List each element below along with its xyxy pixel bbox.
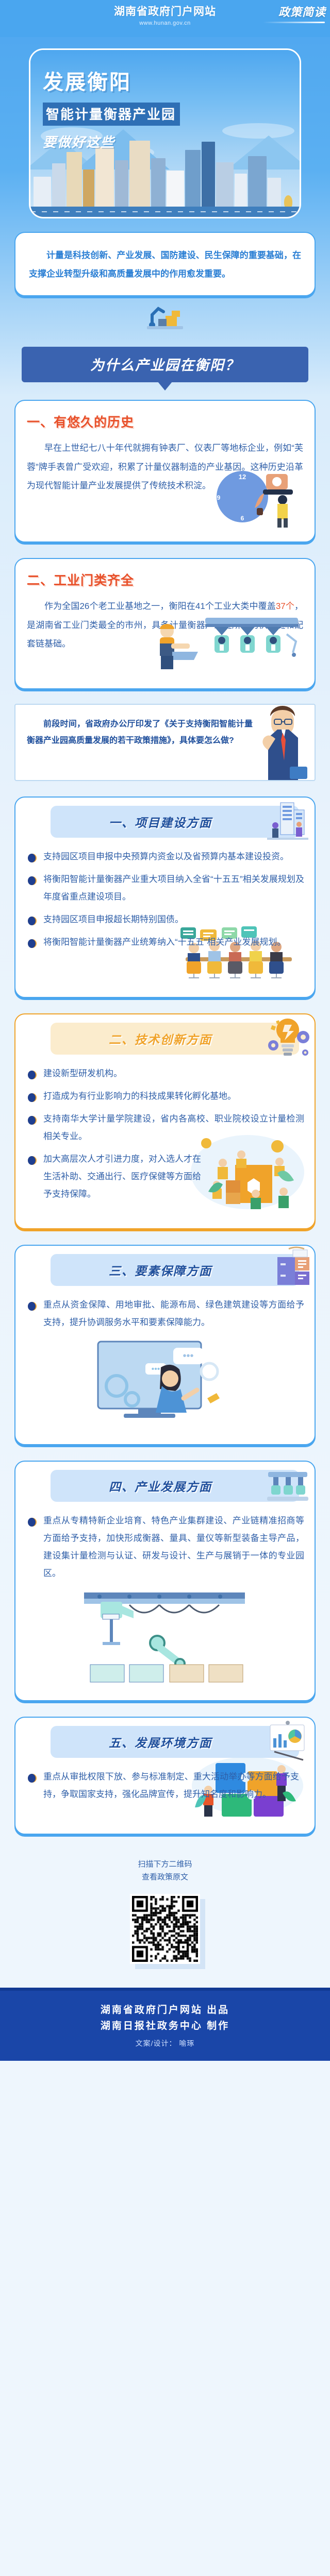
charts-clipboard-icon bbox=[263, 1718, 312, 1765]
section-label-4: 四、产业发展方面 bbox=[109, 1477, 212, 1495]
qr-code-icon[interactable] bbox=[130, 1894, 200, 1964]
list-item: 打造成为有行业影响力的科技成果转化孵化基地。 bbox=[26, 1088, 304, 1105]
policy-section-4: 四、产业发展方面 重点从专精特新企业培育、特色产业集群建设、产业链精准招商等方面… bbox=[14, 1461, 316, 1701]
footer-line-1: 湖南省政府门户网站 出品 bbox=[5, 2002, 325, 2018]
reason-highlight-37: 37个 bbox=[276, 601, 294, 611]
infographic-page: 湖南省政府门户网站 www.hunan.gov.cn 政策简读 发展衡阳 智能计… bbox=[0, 0, 330, 2576]
hero-title-group: 发展衡阳 智能计量衡器产业园 要做好这些 bbox=[30, 50, 300, 151]
reason-title-2: 二、工业门类齐全 bbox=[27, 570, 303, 589]
woman-monitor-gears-icon: ••• ••• bbox=[88, 1336, 242, 1429]
footer-credit: 文案/设计： 喻琢 bbox=[5, 2038, 325, 2048]
conveyor-industry-icon bbox=[263, 1462, 312, 1509]
reason-card-1: 一、有悠久的历史 早在上世纪七八十年代就拥有钟表厂、仪表厂等地标企业，例如“芙蓉… bbox=[14, 400, 316, 543]
qr-caption-line1: 扫描下方二维码 bbox=[0, 1858, 330, 1872]
intro-card: 计量是科技创新、产业发展、国防建设、民生保障的重要基础，在支撑企业转型升级和高质… bbox=[14, 232, 316, 296]
lightbulb-gear-icon bbox=[263, 1014, 312, 1062]
policy-brief-badge: 政策简读 bbox=[278, 3, 326, 20]
brand-underline-decoration bbox=[263, 22, 325, 23]
section-header-1: 一、项目建设方面 bbox=[51, 806, 299, 838]
list-item: 重点从审批权限下放、参与标准制定、重大活动举办等方面给予支持，争取国家支持，强化… bbox=[26, 1768, 304, 1803]
factory-robot-illustration-icon bbox=[148, 614, 303, 675]
question-banner-wrap: 为什么产业园在衡阳？ bbox=[14, 347, 316, 382]
section-header-3: 三、要素保障方面 bbox=[51, 1254, 299, 1286]
hero-title-line1: 发展衡阳 bbox=[43, 65, 131, 95]
section-header-4: 四、产业发展方面 bbox=[51, 1470, 299, 1502]
section-bullets-1: 支持园区项目申报中央预算内资金以及省预算内基本建设投资。 将衡阳智能计量衡器产业… bbox=[26, 848, 304, 951]
reason-card-2: 二、工业门类齐全 作为全国26个老工业基地之一，衡阳在41个工业大类中覆盖37个… bbox=[14, 558, 316, 689]
hero-title-line3: 要做好这些 bbox=[43, 132, 300, 151]
intro-text: 计量是科技创新、产业发展、国防建设、民生保障的重要基础，在支撑企业转型升级和高质… bbox=[29, 246, 301, 283]
site-header: 湖南省政府门户网站 www.hunan.gov.cn 政策简读 bbox=[0, 0, 330, 37]
section-bullets-4: 重点从专精特新企业培育、特色产业集群建设、产业链精准招商等方面给予支持，加快形成… bbox=[26, 1512, 304, 1582]
robot-conveyor-illustration bbox=[26, 1587, 304, 1688]
site-name: 湖南省政府门户网站 bbox=[114, 3, 216, 19]
page-footer: 湖南省政府门户网站 出品 湖南日报社政务中心 制作 文案/设计： 喻琢 bbox=[0, 1988, 330, 2061]
policy-notice-card: 前段时间，省政府办公厅印发了《关于支持衡阳智能计量衡器产业园高质量发展的若干政策… bbox=[14, 704, 316, 781]
file-cabinet-icon bbox=[263, 1246, 312, 1293]
list-item: 重点从资金保障、用地审批、能源布局、绿色建筑建设等方面给予支持，提升协调服务水平… bbox=[26, 1296, 304, 1331]
section-label-3: 三、要素保障方面 bbox=[109, 1261, 212, 1279]
svg-text:9: 9 bbox=[217, 494, 221, 501]
city-skyline-illustration bbox=[30, 140, 300, 217]
list-item: 将衡阳智能计量衡器产业重大项目纳入全省“十五五”相关发展规划及年度省重点建设项目… bbox=[26, 871, 304, 906]
list-item: 加大高层次人才引进力度，对入选人才在生活补助、交通出行、医疗保健等方面给予支持保… bbox=[26, 1150, 304, 1203]
qr-caption-line2: 查看政策原文 bbox=[0, 1871, 330, 1885]
question-banner: 为什么产业园在衡阳？ bbox=[22, 347, 308, 382]
svg-text:•••: ••• bbox=[183, 1350, 193, 1362]
hero-title-line2: 智能计量衡器产业园 bbox=[43, 103, 180, 126]
qr-block: 扫描下方二维码 查看政策原文 bbox=[0, 1858, 330, 1974]
footer-line-2: 湖南日报社政务中心 制作 bbox=[5, 2018, 325, 2034]
list-item: 重点从专精特新企业培育、特色产业集群建设、产业链精准招商等方面给予支持，加快形成… bbox=[26, 1512, 304, 1582]
list-item: 建设新型研发机构。 bbox=[26, 1065, 304, 1082]
reason-text-2-before: 作为全国26个老工业基地之一，衡阳在41个工业大类中覆盖 bbox=[44, 601, 276, 611]
policy-notice-text: 前段时间，省政府办公厅印发了《关于支持衡阳智能计量衡器产业园高质量发展的若干政策… bbox=[27, 716, 253, 749]
section-bullets-3: 重点从资金保障、用地审批、能源布局、绿色建筑建设等方面给予支持，提升协调服务水平… bbox=[26, 1296, 304, 1331]
section-label-5: 五、发展环境方面 bbox=[109, 1733, 212, 1751]
section-bullets-5: 重点从审批权限下放、参与标准制定、重大活动举办等方面给予支持，争取国家支持，强化… bbox=[26, 1768, 304, 1803]
hero-banner: 发展衡阳 智能计量衡器产业园 要做好这些 bbox=[29, 48, 301, 218]
robot-arm-decoration bbox=[0, 301, 330, 331]
clock-illustration-icon: 12 9 6 6 bbox=[205, 467, 303, 529]
site-url: www.hunan.gov.cn bbox=[114, 20, 216, 26]
list-item: 将衡阳智能计量衡器产业统筹纳入“十五五”相关产业发展规划。 bbox=[26, 934, 304, 951]
section-label-2: 二、技术创新方面 bbox=[109, 1030, 212, 1047]
policy-section-2: 二、技术创新方面 建设新型研发机构。 打造成为有行业影响 bbox=[14, 1013, 316, 1229]
section-header-2: 二、技术创新方面 bbox=[51, 1023, 299, 1055]
svg-text:6: 6 bbox=[241, 515, 244, 522]
policy-section-3: 三、要素保障方面 重点从资金保障、用地审批、能源布局、绿色建筑建设等方面给予支持… bbox=[14, 1245, 316, 1445]
reason-title-1: 一、有悠久的历史 bbox=[27, 412, 303, 431]
woman-monitor-illustration: ••• ••• bbox=[26, 1336, 304, 1432]
section-label-1: 一、项目建设方面 bbox=[109, 813, 212, 831]
office-building-icon bbox=[263, 798, 312, 845]
list-item: 支持南华大学计量学院建设，省内各高校、职业院校设立计量检测相关专业。 bbox=[26, 1110, 304, 1145]
robot-arm-conveyor-icon bbox=[80, 1587, 250, 1685]
section-bullets-2: 建设新型研发机构。 打造成为有行业影响力的科技成果转化孵化基地。 支持南华大学计… bbox=[26, 1065, 304, 1203]
road-decoration bbox=[30, 207, 300, 217]
robot-arm-icon bbox=[143, 301, 187, 331]
svg-text:12: 12 bbox=[239, 473, 246, 481]
policy-section-1: 一、项目建设方面 支持园区项目申报中央预算内资金以及省预算内基本建设投资。 将衡… bbox=[14, 796, 316, 998]
list-item: 支持园区项目申报超长期特别国债。 bbox=[26, 911, 304, 928]
list-item: 支持园区项目申报中央预算内资金以及省预算内基本建设投资。 bbox=[26, 848, 304, 866]
presenter-man-icon bbox=[256, 703, 309, 780]
svg-text:•••: ••• bbox=[152, 1365, 160, 1374]
site-identity: 湖南省政府门户网站 www.hunan.gov.cn bbox=[114, 3, 216, 26]
policy-section-5: 五、发展环境方面 重点从审批权限下放、参与标准制定、重大活动举办等方面给予支持，… bbox=[14, 1717, 316, 1835]
section-header-5: 五、发展环境方面 bbox=[51, 1726, 299, 1758]
